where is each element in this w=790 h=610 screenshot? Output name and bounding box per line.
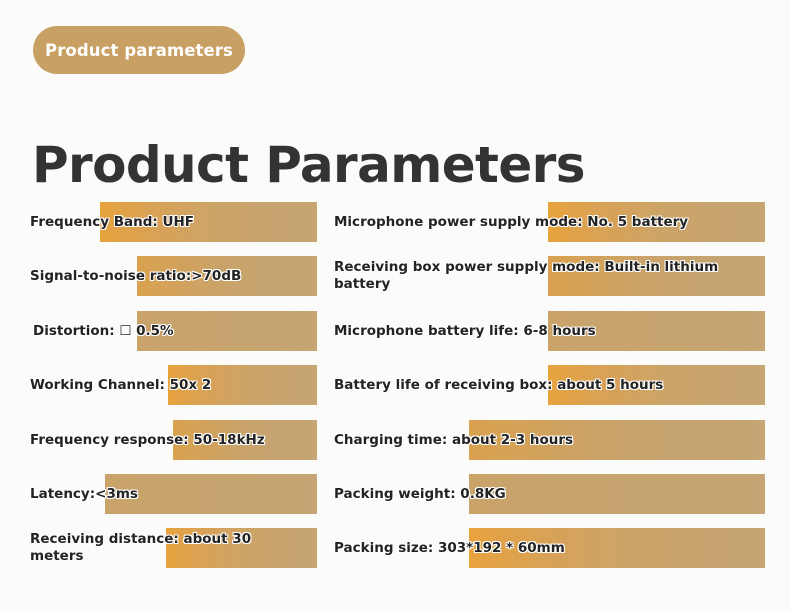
product-parameters-badge[interactable]: Product parameters	[33, 26, 245, 74]
spec-row: Charging time: about 2-3 hours	[0, 420, 790, 460]
badge-label: Product parameters	[45, 41, 233, 60]
product-parameters-page: Product parameters Product Parameters Fr…	[0, 0, 790, 610]
spec-row: Packing weight: 0.8KG	[0, 474, 790, 514]
spec-label: Microphone battery life: 6-8 hours	[334, 311, 596, 351]
spec-label: Packing size: 303*192 * 60mm	[334, 528, 565, 568]
spec-row: Microphone battery life: 6-8 hours	[0, 311, 790, 351]
page-title: Product Parameters	[32, 138, 585, 193]
spec-row: Packing size: 303*192 * 60mm	[0, 528, 790, 568]
spec-row: Microphone power supply mode: No. 5 batt…	[0, 202, 790, 242]
spec-row: Receiving box power supply mode: Built-i…	[0, 256, 790, 296]
spec-label: Receiving box power supply mode: Built-i…	[334, 256, 718, 296]
spec-row: Battery life of receiving box: about 5 h…	[0, 365, 790, 405]
spec-label: Packing weight: 0.8KG	[334, 474, 506, 514]
spec-label: Charging time: about 2-3 hours	[334, 420, 573, 460]
spec-bar	[469, 474, 765, 514]
spec-label: Microphone power supply mode: No. 5 batt…	[334, 202, 688, 242]
spec-label: Battery life of receiving box: about 5 h…	[334, 365, 663, 405]
